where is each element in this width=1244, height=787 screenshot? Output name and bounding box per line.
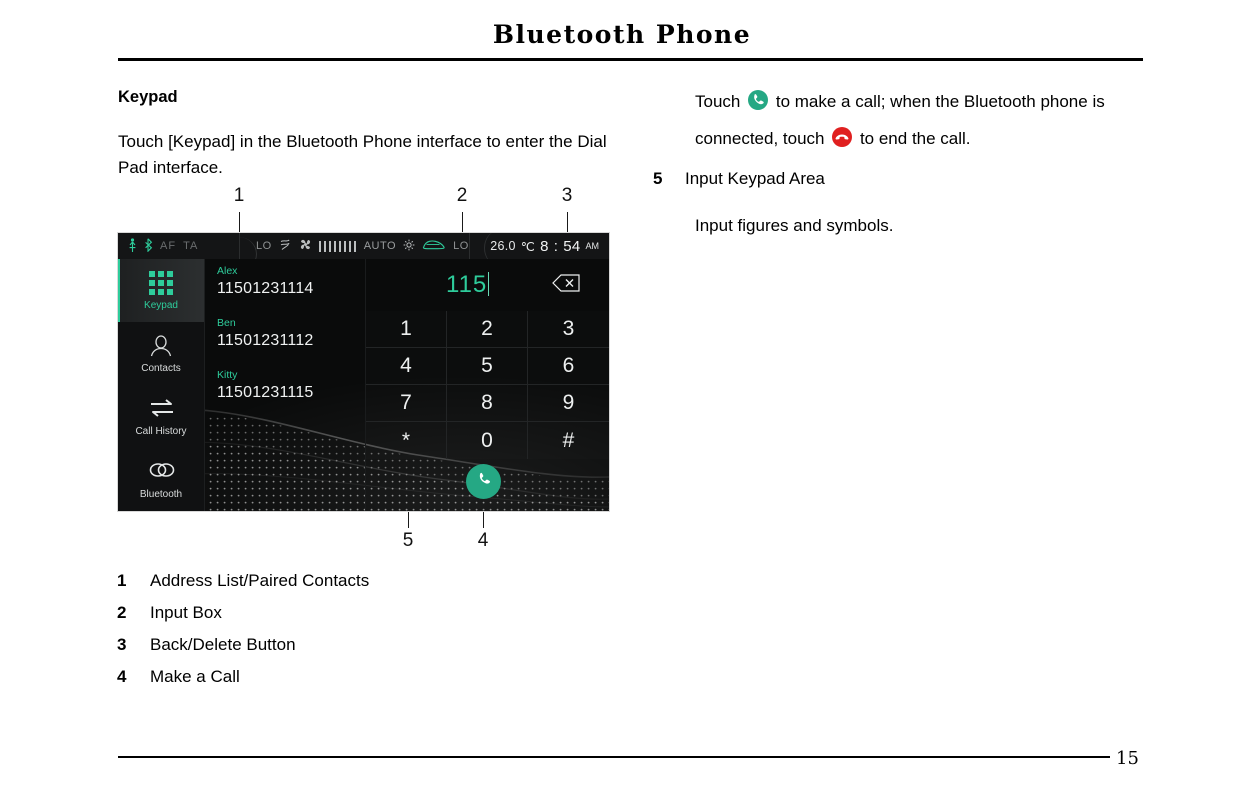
status-bar: AF TA LO AUTO	[118, 233, 609, 259]
bluetooth-icon	[144, 238, 153, 255]
clock-minute: 54	[563, 238, 580, 255]
sidebar-item-keypad[interactable]: Keypad	[118, 259, 204, 322]
make-a-call-button[interactable]	[466, 464, 501, 499]
exchange-arrows-icon	[148, 397, 174, 421]
callout-number-4: 4	[473, 530, 493, 552]
input-keypad-area[interactable]: 1 2 3 4 5 6 7 8 9 * 0 #	[366, 311, 609, 459]
text-caret	[488, 272, 489, 296]
key-1[interactable]: 1	[366, 311, 447, 348]
contact-name: Kitty	[217, 369, 365, 382]
fan-icon	[299, 238, 312, 254]
callout-number-5: 5	[398, 530, 418, 552]
contact-name: Ben	[217, 317, 365, 330]
reference-item-2-label: Input Box	[150, 604, 222, 621]
reference-item-2-number: 2	[117, 604, 150, 621]
green-phone-call-icon	[748, 90, 768, 110]
reference-item-3: 3 Back/Delete Button	[117, 636, 637, 653]
chain-links-icon	[148, 460, 174, 484]
intro-paragraph: Touch [Keypad] in the Bluetooth Phone in…	[118, 129, 618, 181]
clock-ampm: AM	[586, 241, 600, 251]
key-asterisk[interactable]: *	[366, 422, 447, 459]
reference-list: 1 Address List/Paired Contacts 2 Input B…	[117, 572, 637, 700]
backspace-delete-icon[interactable]	[551, 273, 581, 293]
reference-item-5-detail: Input figures and symbols.	[695, 216, 1148, 236]
input-row: 115	[366, 259, 609, 311]
usb-icon	[128, 238, 137, 255]
rear-defog-icon	[422, 239, 446, 254]
sidebar-item-bluetooth[interactable]: Bluetooth	[118, 448, 204, 511]
reference-item-3-number: 3	[117, 636, 150, 653]
radio-af-label: AF	[160, 240, 176, 252]
input-box[interactable]: 115	[446, 271, 489, 299]
contact-number: 11501231114	[217, 278, 365, 299]
contact-number: 11501231115	[217, 382, 365, 403]
temperature-unit: ℃	[521, 239, 535, 254]
key-5[interactable]: 5	[447, 348, 528, 385]
reference-item-4: 4 Make a Call	[117, 668, 637, 685]
clock-hour: 8	[540, 238, 549, 255]
right-column: Touch to make a call; when the Bluetooth…	[653, 84, 1148, 236]
key-4[interactable]: 4	[366, 348, 447, 385]
sidebar-item-keypad-label: Keypad	[144, 300, 178, 311]
key-7[interactable]: 7	[366, 385, 447, 422]
call-instruction-paragraph: Touch to make a call; when the Bluetooth…	[695, 84, 1148, 157]
callout-number-2: 2	[452, 185, 472, 207]
phone-handset-icon	[474, 469, 494, 494]
reference-item-1-number: 1	[117, 572, 150, 589]
keypad-grid-icon	[149, 271, 173, 295]
key-9[interactable]: 9	[528, 385, 609, 422]
radio-ta-label: TA	[183, 240, 198, 252]
clock-separator: :	[554, 238, 558, 255]
contact-name: Alex	[217, 265, 365, 278]
footer-rule	[118, 756, 1110, 758]
climate-left-temp: LO	[256, 240, 272, 252]
sun-icon	[403, 239, 415, 254]
page-number: 15	[1116, 748, 1139, 769]
reference-item-1: 1 Address List/Paired Contacts	[117, 572, 637, 589]
end-call-text: to end the call.	[860, 129, 971, 148]
fan-level-bars	[319, 241, 357, 252]
reference-item-4-number: 4	[117, 668, 150, 685]
input-box-value: 115	[446, 271, 487, 298]
touch-label-1: Touch	[695, 92, 740, 111]
status-bar-right-segment: 26.0 ℃ 8 : 54 AM	[470, 233, 609, 259]
reference-item-1-label: Address List/Paired Contacts	[150, 572, 369, 589]
section-heading: Keypad	[118, 88, 618, 107]
sidebar-item-bluetooth-label: Bluetooth	[140, 489, 182, 500]
key-6[interactable]: 6	[528, 348, 609, 385]
sidebar-item-call-history-label: Call History	[135, 426, 186, 437]
key-2[interactable]: 2	[447, 311, 528, 348]
sidebar-item-call-history[interactable]: Call History	[118, 385, 204, 448]
key-8[interactable]: 8	[447, 385, 528, 422]
list-item[interactable]: Ben 11501231112	[205, 311, 365, 363]
sidebar-item-contacts[interactable]: Contacts	[118, 322, 204, 385]
reference-item-5-label: Input Keypad Area	[685, 169, 825, 189]
key-3[interactable]: 3	[528, 311, 609, 348]
air-recirculation-icon	[279, 238, 292, 254]
callout-number-1: 1	[229, 185, 249, 207]
callout-number-3: 3	[557, 185, 577, 207]
head-unit-screenshot: AF TA LO AUTO	[118, 233, 609, 511]
auto-climate-label: AUTO	[364, 240, 396, 252]
address-list[interactable]: Alex 11501231114 Ben 11501231112 Kitty 1…	[205, 259, 366, 511]
reference-item-3-label: Back/Delete Button	[150, 636, 296, 653]
red-phone-hangup-icon	[832, 127, 852, 147]
left-column: Keypad Touch [Keypad] in the Bluetooth P…	[118, 88, 618, 181]
reference-item-5: 5 Input Keypad Area	[653, 169, 1148, 189]
climate-right-temp: LO	[453, 240, 469, 252]
list-item[interactable]: Alex 11501231114	[205, 259, 365, 311]
reference-item-2: 2 Input Box	[117, 604, 637, 621]
contact-number: 11501231112	[217, 330, 365, 351]
list-item[interactable]: Kitty 11501231115	[205, 363, 365, 415]
status-bar-left-segment: AF TA	[118, 233, 240, 259]
reference-item-5-number: 5	[653, 169, 685, 189]
key-0[interactable]: 0	[447, 422, 528, 459]
person-icon	[148, 334, 174, 358]
key-hash[interactable]: #	[528, 422, 609, 459]
sidebar-item-contacts-label: Contacts	[141, 363, 180, 374]
page-title: Bluetooth Phone	[0, 20, 1244, 49]
sidebar: Keypad Contacts Call History	[118, 259, 205, 511]
reference-item-4-label: Make a Call	[150, 668, 240, 685]
header-rule	[118, 58, 1143, 61]
status-bar-climate-segment: LO AUTO	[240, 233, 470, 259]
head-unit-body: Keypad Contacts Call History	[118, 259, 609, 511]
